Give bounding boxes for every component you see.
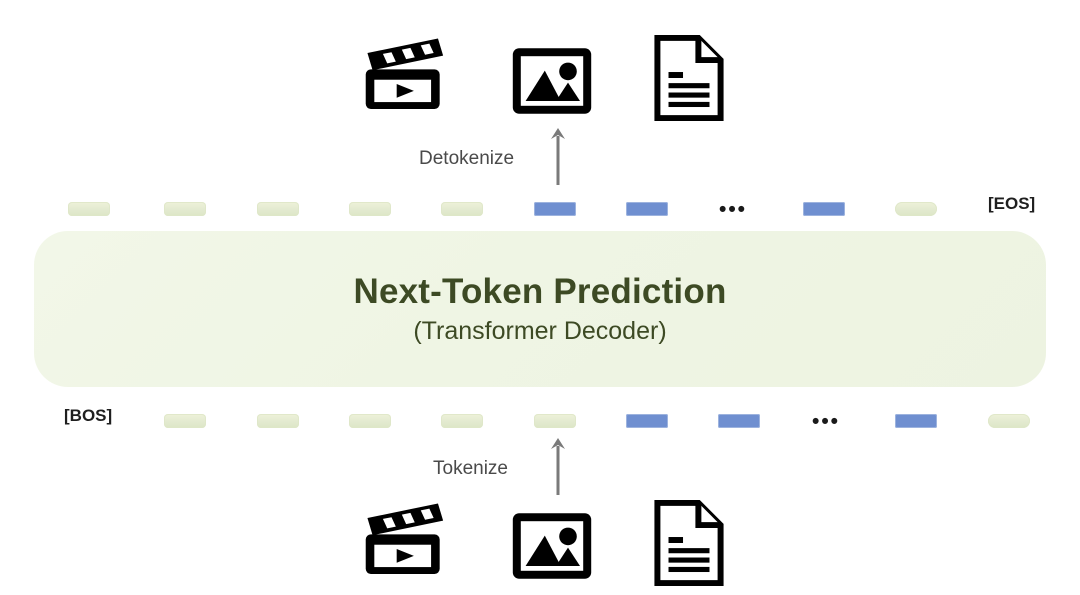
decoder-subtitle: (Transformer Decoder) xyxy=(413,318,666,346)
next-token-prediction-box: Next-Token Prediction (Transformer Decod… xyxy=(34,231,1046,387)
input-token-row: •••[BOS] xyxy=(0,408,1080,434)
token-green xyxy=(441,414,483,428)
detokenize-arrow-up-icon xyxy=(549,127,567,190)
detokenize-label: Detokenize xyxy=(419,148,514,170)
token-blue xyxy=(626,202,668,216)
token-blue xyxy=(718,414,760,428)
token-green xyxy=(349,414,391,428)
output-token-row: •••[EOS] xyxy=(0,196,1080,222)
token-ellipsis: ••• xyxy=(712,198,754,220)
token-green xyxy=(349,202,391,216)
diagram-canvas: Detokenize •••[EOS] Next-Token Predictio… xyxy=(0,0,1080,595)
token-green xyxy=(895,202,937,216)
clapperboard-icon xyxy=(362,33,452,123)
token-blue xyxy=(626,414,668,428)
token-green xyxy=(164,202,206,216)
token-blue xyxy=(534,202,576,216)
token-blue xyxy=(803,202,845,216)
token-ellipsis: ••• xyxy=(805,410,847,432)
picture-icon xyxy=(507,36,597,126)
token-green xyxy=(988,414,1030,428)
picture-icon xyxy=(507,501,597,591)
token-green xyxy=(441,202,483,216)
tokenize-label: Tokenize xyxy=(433,458,508,480)
bos-label: [BOS] xyxy=(64,406,112,426)
token-green xyxy=(68,202,110,216)
eos-label: [EOS] xyxy=(988,194,1035,214)
token-green xyxy=(164,414,206,428)
document-icon xyxy=(644,33,734,123)
token-green xyxy=(257,414,299,428)
document-icon xyxy=(644,498,734,588)
output-modality-icon-row xyxy=(0,33,1080,123)
tokenize-arrow-up-icon xyxy=(549,437,567,500)
clapperboard-icon xyxy=(362,498,452,588)
token-green xyxy=(257,202,299,216)
input-modality-icon-row xyxy=(0,498,1080,588)
token-blue xyxy=(895,414,937,428)
decoder-title: Next-Token Prediction xyxy=(353,273,726,312)
token-green xyxy=(534,414,576,428)
